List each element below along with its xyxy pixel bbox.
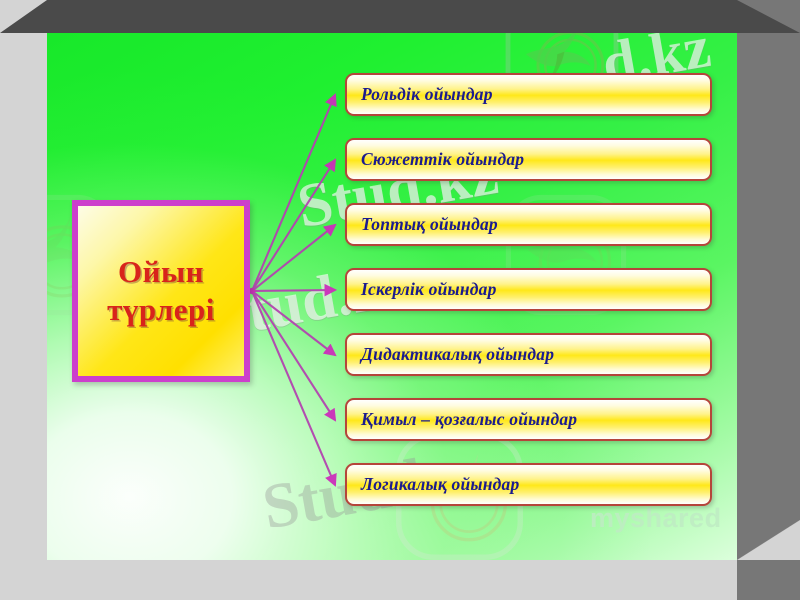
branch-box-5[interactable]: Дидактикалық ойындар [345,333,712,376]
center-node[interactable]: Ойын түрлері [72,200,250,382]
watermark-brand: myshared [590,503,722,534]
branch-label: Топтық ойындар [347,214,498,235]
slide-frame: d.kz Stud.kz Stud.kz Stud.kz myshared [0,0,800,600]
frame-bevel-right [737,0,800,600]
connector-line-2 [252,160,335,291]
branch-label: Дидактикалық ойындар [347,344,554,365]
branch-box-6[interactable]: Қимыл – қозғалыс ойындар [345,398,712,441]
slide-canvas: d.kz Stud.kz Stud.kz Stud.kz myshared [47,33,737,560]
connector-line-4 [252,290,335,291]
branch-box-3[interactable]: Топтық ойындар [345,203,712,246]
connector-line-3 [252,225,335,291]
frame-corner-bottom-right [737,520,800,560]
branch-box-7[interactable]: Логикалық ойындар [345,463,712,506]
branch-box-4[interactable]: Іскерлік ойындар [345,268,712,311]
frame-corner-top-left [0,0,47,33]
branch-label: Рольдік ойындар [347,84,493,105]
branch-label: Іскерлік ойындар [347,279,497,300]
center-node-line-2: түрлері [107,291,215,329]
frame-bevel-bottom [0,560,800,600]
branch-label: Логикалық ойындар [347,474,519,495]
connector-line-7 [252,291,335,485]
connector-line-5 [252,291,335,355]
branch-label: Қимыл – қозғалыс ойындар [347,409,577,430]
frame-corner-top-right [737,0,800,33]
branch-box-2[interactable]: Сюжеттік ойындар [345,138,712,181]
frame-bevel-top [0,0,800,33]
frame-bevel-left [0,0,47,600]
branch-box-1[interactable]: Рольдік ойындар [345,73,712,116]
center-node-line-1: Ойын [118,253,204,291]
connector-line-6 [252,291,335,420]
connector-line-1 [252,95,335,291]
branch-label: Сюжеттік ойындар [347,149,524,170]
